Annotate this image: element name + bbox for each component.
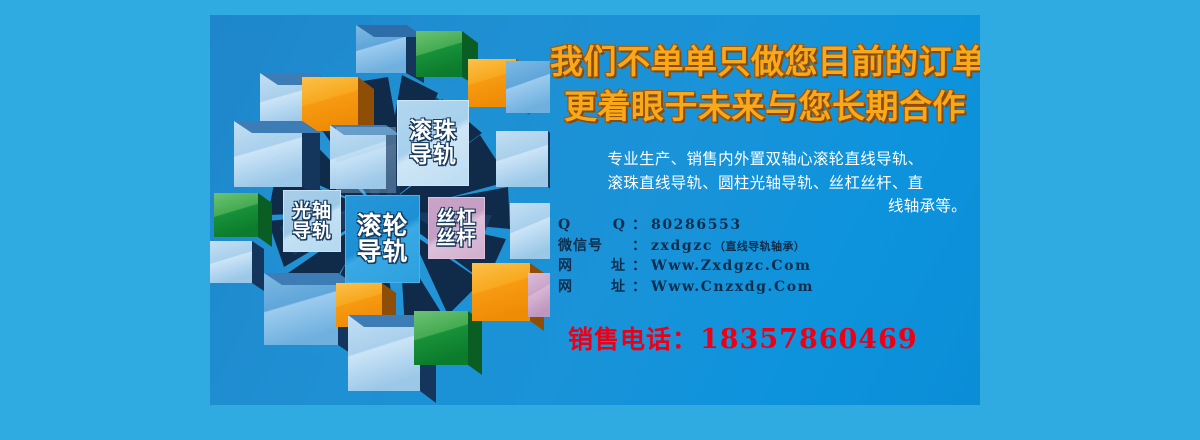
headline-line-2: 更着眼于未来与您长期合作 <box>550 84 980 129</box>
product-label-guangzhou-daogui: 光轴 导轨 <box>283 190 341 252</box>
contact-separator: ： <box>632 236 651 257</box>
contact-label-website-2-b: 址 <box>611 277 626 298</box>
product-label-line2: 导轨 <box>292 221 332 241</box>
contact-label-website-1: 网 址 <box>558 256 632 277</box>
contact-separator: ： <box>632 215 651 236</box>
contact-row-wechat: 微信号 ： zxdgzc （直线导轨轴承） <box>550 236 980 257</box>
contact-list: Q Q ： 80286553 微信号 ： zxdgzc （直线导轨轴承） 网 址 <box>550 215 980 298</box>
contact-label-website-2: 网 址 <box>558 277 632 298</box>
product-label-line2: 丝杆 <box>436 228 476 248</box>
contact-value-wechat[interactable]: zxdgzc <box>651 236 713 257</box>
contact-value-website-1[interactable]: Www.Zxdgzc.Com <box>651 256 811 277</box>
product-label-line2: 导轨 <box>409 143 457 167</box>
product-label-line1: 光轴 <box>292 201 332 221</box>
sales-phone-number[interactable]: 18357860469 <box>698 324 918 355</box>
sales-phone-label: 销售电话： <box>568 325 698 354</box>
sales-phone: 销售电话：18357860469 <box>550 320 980 356</box>
headline: 我们不单单只做您目前的订单 更着眼于未来与您长期合作 <box>550 39 980 129</box>
product-label-gunzhu-daogui: 滚珠 导轨 <box>397 100 469 186</box>
contact-separator: ： <box>632 277 651 298</box>
contact-row-website-1: 网 址 ： Www.Zxdgzc.Com <box>550 256 980 277</box>
contact-label-website-2-a: 网 <box>558 277 573 298</box>
contact-label-wechat: 微信号 <box>558 236 632 257</box>
contact-label-website-1-a: 网 <box>558 256 573 277</box>
contact-label-qq: Q Q <box>558 215 632 236</box>
product-label-line1: 滚珠 <box>409 119 457 143</box>
description-paragraph: 专业生产、销售内外置双轴心滚轮直线导轨、 滚珠直线导轨、圆柱光轴导轨、丝杠丝杆、… <box>558 148 973 219</box>
contact-row-website-2: 网 址 ： Www.Cnzxdg.Com <box>550 277 980 298</box>
product-label-sigang-sigan: 丝杠 丝杆 <box>428 197 485 259</box>
product-label-line1: 丝杠 <box>436 208 476 228</box>
contact-label-qq-a: Q <box>558 215 571 236</box>
description-line-2: 滚珠直线导轨、圆柱光轴导轨、丝杠丝杆、直 <box>558 172 973 196</box>
product-label-line1: 滚轮 <box>356 213 408 240</box>
contact-label-website-1-b: 址 <box>611 256 626 277</box>
promo-banner-panel: 滚珠 导轨 光轴 导轨 滚轮 导轨 丝杠 丝杆 我们不单单只做您目前的订单 更着… <box>210 15 980 405</box>
product-label-line2: 导轨 <box>356 239 408 266</box>
headline-line-1: 我们不单单只做您目前的订单 <box>550 39 980 84</box>
contact-value-qq[interactable]: 80286553 <box>651 215 742 236</box>
banner-text-column: 我们不单单只做您目前的订单 更着眼于未来与您长期合作 专业生产、销售内外置双轴心… <box>550 15 980 405</box>
banner-root: 滚珠 导轨 光轴 导轨 滚轮 导轨 丝杠 丝杆 我们不单单只做您目前的订单 更着… <box>0 0 1200 440</box>
description-line-1: 专业生产、销售内外置双轴心滚轮直线导轨、 <box>558 148 973 172</box>
contact-value-website-2[interactable]: Www.Cnzxdg.Com <box>651 277 814 298</box>
contact-note-wechat: （直线导轨轴承） <box>713 239 805 255</box>
contact-label-qq-b: Q <box>613 215 626 236</box>
contact-row-qq: Q Q ： 80286553 <box>550 215 980 236</box>
contact-separator: ： <box>632 256 651 277</box>
product-label-gunlun-daogui: 滚轮 导轨 <box>345 195 420 283</box>
